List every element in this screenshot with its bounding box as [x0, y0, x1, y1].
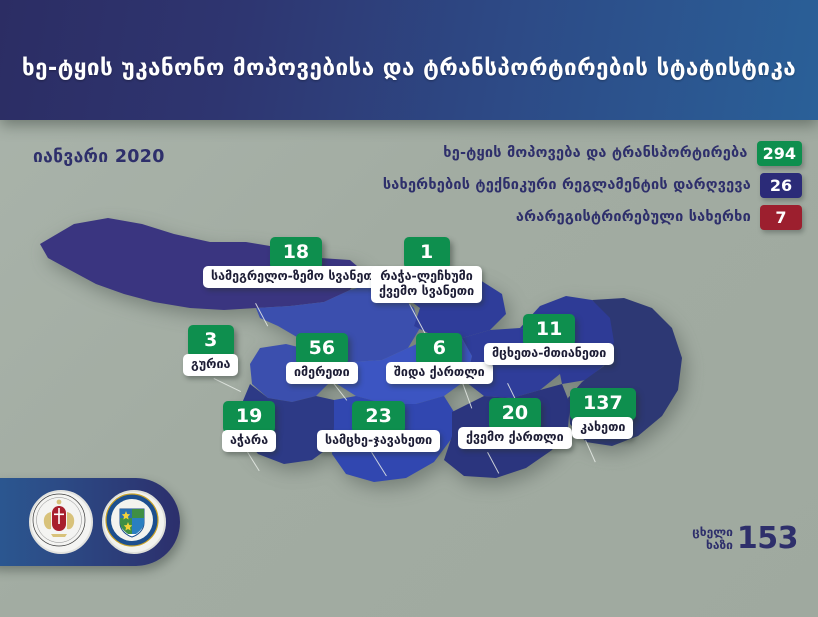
- marker-label: აჭარა: [222, 430, 276, 452]
- marker-count: 3: [188, 325, 234, 357]
- map-marker-shida-kartli[interactable]: 6 შიდა ქართლი: [386, 333, 493, 384]
- marker-label: სამეგრელო-ზემო სვანეთი: [203, 266, 389, 288]
- legend-label: ხე-ტყის მოპოვება და ტრანსპორტირება: [443, 145, 747, 161]
- map-marker-mtskheta[interactable]: 11 მცხეთა-მთიანეთი: [484, 314, 614, 365]
- georgia-coat-of-arms-icon: [29, 490, 93, 554]
- legend-row: ხე-ტყის მოპოვება და ტრანსპორტირება 294: [282, 140, 802, 166]
- marker-count: 56: [296, 333, 348, 365]
- marker-label: იმერეთი: [286, 362, 358, 384]
- infographic-root: ხე-ტყის უკანონო მოპოვებისა და ტრანსპორტი…: [0, 0, 818, 617]
- map-marker-adjara[interactable]: 19 აჭარა: [222, 401, 276, 452]
- legend-value-badge: 26: [760, 173, 802, 198]
- map-marker-imereti[interactable]: 56 იმერეთი: [286, 333, 358, 384]
- emblem-bar: [0, 478, 180, 566]
- marker-count: 1: [404, 237, 450, 269]
- marker-label: ქვემო ქართლი: [458, 427, 572, 449]
- page-title: ხე-ტყის უკანონო მოპოვებისა და ტრანსპორტი…: [22, 55, 796, 81]
- marker-count: 11: [523, 314, 575, 346]
- page-header: ხე-ტყის უკანონო მოპოვებისა და ტრანსპორტი…: [0, 0, 818, 120]
- map-marker-samtskhe[interactable]: 23 სამცხე-ჯავახეთი: [317, 401, 440, 452]
- map-marker-racha[interactable]: 1 რაჭა-ლეჩხუმი ქვემო სვანეთი: [371, 237, 482, 303]
- legend-value-badge: 294: [757, 141, 802, 166]
- period-label: იანვარი 2020: [33, 147, 165, 167]
- hotline: ცხელი ხაზი 153: [692, 524, 798, 554]
- marker-count: 19: [223, 401, 275, 433]
- marker-count: 18: [270, 237, 322, 269]
- marker-count: 23: [352, 401, 404, 433]
- marker-label: კახეთი: [572, 417, 633, 439]
- marker-label: გურია: [183, 354, 238, 376]
- marker-label: სამცხე-ჯავახეთი: [317, 430, 440, 452]
- hotline-label-line2: ხაზი: [692, 539, 733, 552]
- map-marker-samegrelo[interactable]: 18 სამეგრელო-ზემო სვანეთი: [203, 237, 389, 288]
- map-marker-guria[interactable]: 3 გურია: [183, 325, 238, 376]
- marker-label: მცხეთა-მთიანეთი: [484, 343, 614, 365]
- legend-value-badge: 7: [760, 205, 802, 230]
- map-marker-kakheti[interactable]: 137 კახეთი: [570, 388, 636, 439]
- marker-count: 6: [416, 333, 462, 365]
- hotline-number: 153: [737, 524, 798, 554]
- legend-label: სახერხების ტექნიკური რეგლამენტის დარღვევ…: [383, 177, 751, 193]
- hotline-label: ცხელი ხაზი: [692, 526, 733, 551]
- marker-label: შიდა ქართლი: [386, 362, 493, 384]
- map-marker-kvemo-kartli[interactable]: 20 ქვემო ქართლი: [458, 398, 572, 449]
- marker-label: რაჭა-ლეჩხუმი ქვემო სვანეთი: [371, 266, 482, 303]
- marker-count: 137: [570, 388, 636, 420]
- marker-count: 20: [489, 398, 541, 430]
- ministry-environment-emblem-icon: [102, 490, 166, 554]
- legend-row: სახერხების ტექნიკური რეგლამენტის დარღვევ…: [282, 172, 802, 198]
